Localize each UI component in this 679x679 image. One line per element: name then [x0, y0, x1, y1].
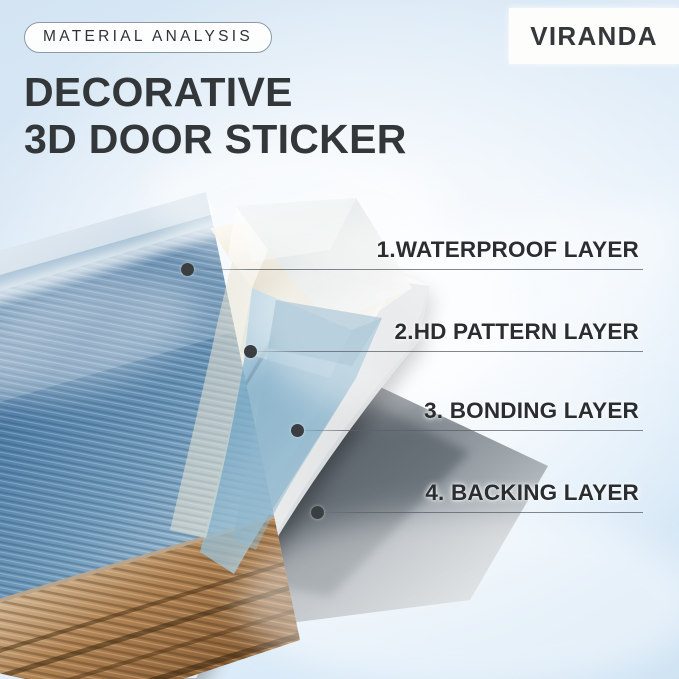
poster-canvas: MATERIAL ANALYSIS DECORATIVE 3D DOOR STI…	[0, 0, 679, 679]
material-analysis-badge: MATERIAL ANALYSIS	[24, 22, 272, 53]
page-title-line-2: 3D DOOR STICKER	[24, 116, 407, 164]
page-title-line-1: DECORATIVE	[24, 69, 407, 117]
callout-label: 4. BACKING LAYER	[425, 480, 639, 506]
brand-name: VIRANDA	[530, 21, 658, 52]
leader-line	[250, 351, 643, 352]
header-block: MATERIAL ANALYSIS DECORATIVE 3D DOOR STI…	[24, 22, 407, 164]
callout-hd-pattern-layer: 2.HD PATTERN LAYER	[250, 334, 661, 352]
callout-waterproof-layer: 1.WATERPROOF LAYER	[187, 252, 661, 270]
callout-backing-layer: 4. BACKING LAYER	[317, 495, 661, 513]
callout-label: 2.HD PATTERN LAYER	[395, 319, 639, 345]
callout-label: 3. BONDING LAYER	[424, 398, 639, 424]
leader-line	[317, 512, 643, 513]
callout-label: 1.WATERPROOF LAYER	[377, 237, 639, 263]
page-title: DECORATIVE 3D DOOR STICKER	[24, 69, 407, 164]
leader-line	[297, 430, 643, 431]
callout-bonding-layer: 3. BONDING LAYER	[297, 413, 661, 431]
leader-line	[187, 269, 643, 270]
brand-logo: VIRANDA	[509, 8, 679, 64]
